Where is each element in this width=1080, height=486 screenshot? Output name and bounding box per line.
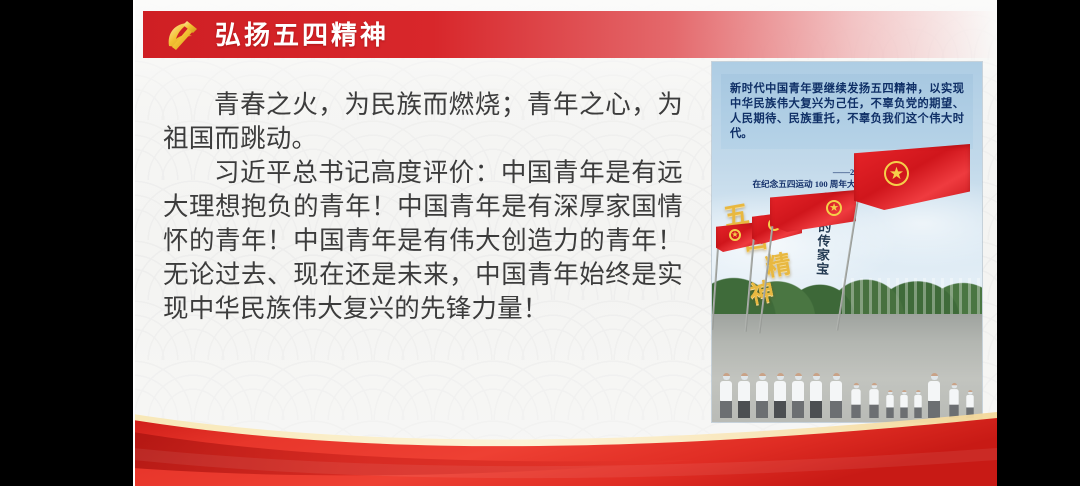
student-figure: [774, 373, 786, 418]
party-hammer-sickle-emblem-icon: [163, 16, 201, 54]
slide-title-bar: 弘扬五四精神: [143, 11, 997, 58]
flag-cloth-2: ★: [770, 190, 856, 232]
youth-league-flag-2: ★: [770, 190, 856, 232]
poster-image: 新时代中国青年要继续发扬五四精神，以实现中华民族伟大复兴为己任，不辜负党的期望、…: [712, 62, 982, 422]
body-paragraph-1: 青春之火，为民族而燃烧；青年之心，为祖国而跳动。: [163, 88, 683, 156]
communist-youth-league-star-icon: ★: [884, 161, 909, 186]
student-figure: [949, 383, 958, 418]
letterbox-bar-right: [997, 0, 1080, 486]
poster-quote-text: 新时代中国青年要继续发扬五四精神，以实现中华民族伟大复兴为己任，不辜负党的期望、…: [730, 82, 964, 142]
communist-youth-league-star-icon: ★: [729, 229, 741, 241]
flag-cloth-1: ★: [854, 144, 970, 210]
poster-quote-band: 新时代中国青年要继续发扬五四精神，以实现中华民族伟大复兴为己任，不辜负党的期望、…: [721, 74, 973, 149]
student-figure: [792, 373, 804, 418]
presentation-slide: 弘扬五四精神 青春之火，为民族而燃烧；青年之心，为祖国而跳动。 习近平总书记高度…: [133, 0, 997, 486]
student-figure: [966, 390, 973, 418]
student-figure: [869, 383, 878, 418]
student-figure: [830, 373, 842, 418]
student-figure: [720, 373, 732, 418]
student-figure: [900, 390, 907, 418]
student-figure: [851, 383, 860, 418]
body-paragraph-2: 习近平总书记高度评价：中国青年是有远大理想抱负的青年！中国青年是有深厚家国情怀的…: [163, 156, 683, 326]
student-figure: [886, 390, 893, 418]
slide-title: 弘扬五四精神: [215, 22, 389, 48]
student-figure: [928, 373, 940, 418]
youth-league-flag-1: ★: [854, 144, 970, 210]
student-figure: [914, 390, 921, 418]
slide-body-text: 青春之火，为民族而燃烧；青年之心，为祖国而跳动。 习近平总书记高度评价：中国青年…: [163, 88, 683, 326]
letterbox-bar-left: [0, 0, 133, 486]
slide-left-edge: [133, 0, 135, 486]
student-figure: [738, 373, 750, 418]
screenshot-viewport: 弘扬五四精神 青春之火，为民族而燃烧；青年之心，为祖国而跳动。 习近平总书记高度…: [0, 0, 1080, 486]
student-figure: [756, 373, 768, 418]
student-figure: [810, 373, 822, 418]
poster-student-row: [712, 356, 982, 418]
communist-youth-league-star-icon: ★: [826, 200, 842, 216]
poster-school-building: [842, 278, 982, 318]
